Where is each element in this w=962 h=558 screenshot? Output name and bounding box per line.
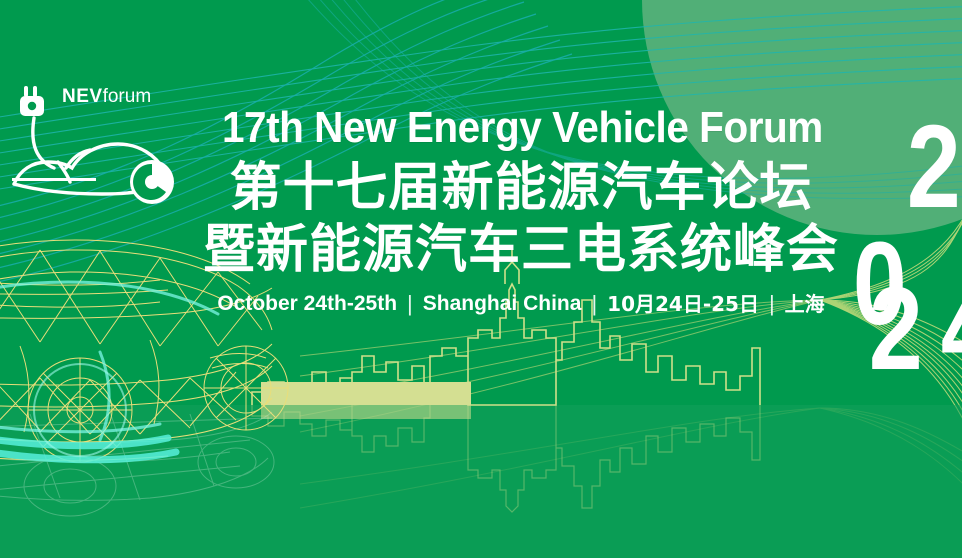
title-chinese-line2: 暨新能源汽车三电系统峰会	[196, 220, 846, 280]
title-chinese-line1: 第十七届新能源汽车论坛	[196, 158, 846, 218]
meta-date-chinese: 10月24日-25日	[607, 292, 759, 316]
year-digit-3: 2	[869, 270, 923, 388]
logo-wordmark-light: forum	[103, 86, 152, 107]
year-mark-2024: 2 0 2 4	[845, 108, 957, 308]
logo-wordmark-bold: NEV	[62, 86, 103, 107]
meta-separator-1: |	[407, 292, 413, 316]
meta-separator-2: |	[591, 292, 597, 316]
year-digit-4: 4	[941, 270, 962, 388]
meta-date-english: October 24th-25th	[217, 292, 397, 316]
logo-wordmark: NEVforum	[62, 86, 151, 108]
title-english: 17th New Energy Vehicle Forum	[222, 104, 820, 152]
event-poster: NEVforum 17th New Energy Vehicle Forum 第…	[0, 0, 962, 558]
meta-separator-3: |	[769, 292, 775, 316]
meta-city-chinese: 上海	[785, 292, 825, 316]
headline-block: 17th New Energy Vehicle Forum 第十七届新能源汽车论…	[196, 104, 846, 316]
event-meta-line: October 24th-25th | Shanghai China | 10月…	[196, 292, 846, 316]
meta-city-english: Shanghai China	[423, 292, 582, 316]
